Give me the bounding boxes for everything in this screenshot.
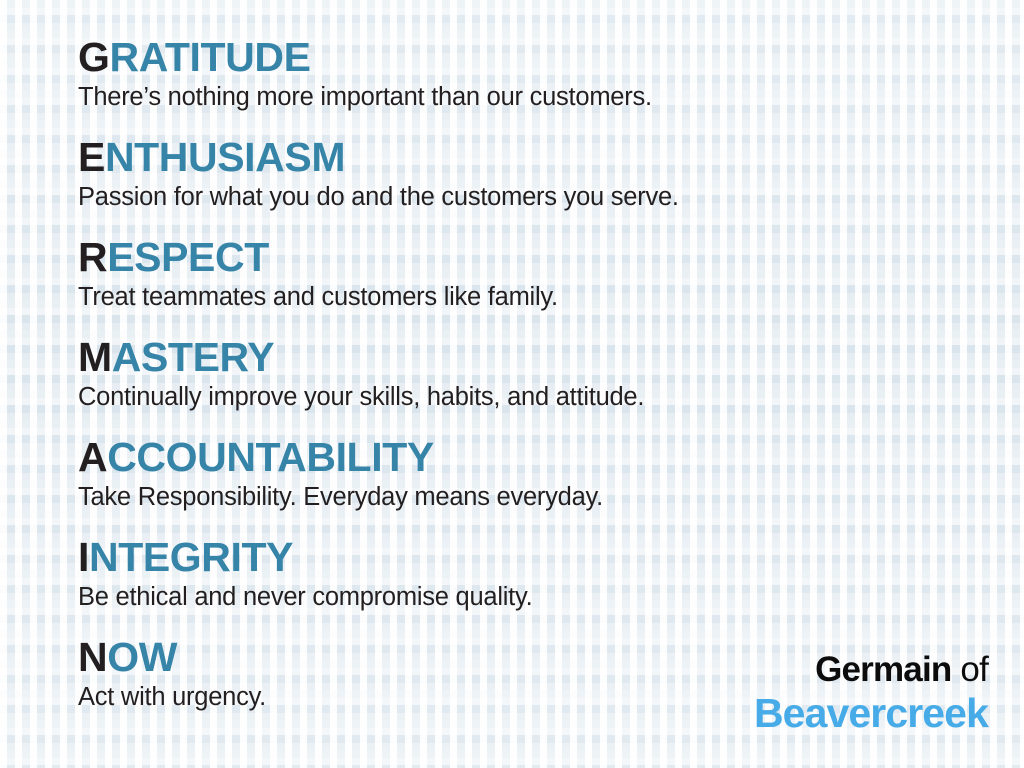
logo-location-name: Beavercreek <box>754 691 988 736</box>
value-initial-letter: G <box>78 34 110 80</box>
value-heading-now: NOW <box>78 634 679 680</box>
value-initial-letter: R <box>78 234 107 280</box>
logo-line-primary: Germain of <box>754 650 988 690</box>
value-initial-letter: E <box>78 134 105 180</box>
value-block-accountability: ACCOUNTABILITY Take Responsibility. Ever… <box>78 434 679 534</box>
slide-canvas: GRATITUDE There’s nothing more important… <box>0 0 1024 768</box>
value-heading-integrity: INTEGRITY <box>78 534 679 580</box>
value-heading-rest: RATITUDE <box>110 34 311 80</box>
logo-brand-name: Germain <box>815 650 951 689</box>
value-initial-letter: N <box>78 634 107 680</box>
value-block-respect: RESPECT Treat teammates and customers li… <box>78 234 679 334</box>
value-heading-rest: ESPECT <box>107 234 269 280</box>
value-description-integrity: Be ethical and never compromise quality. <box>78 581 679 613</box>
logo-connector-word: of <box>951 650 988 689</box>
value-heading-rest: NTEGRITY <box>89 534 293 580</box>
value-block-enthusiasm: ENTHUSIASM Passion for what you do and t… <box>78 134 679 234</box>
core-values-list: GRATITUDE There’s nothing more important… <box>78 34 679 734</box>
value-block-gratitude: GRATITUDE There’s nothing more important… <box>78 34 679 134</box>
value-initial-letter: I <box>78 534 89 580</box>
value-heading-accountability: ACCOUNTABILITY <box>78 434 679 480</box>
value-block-now: NOW Act with urgency. <box>78 634 679 734</box>
value-description-respect: Treat teammates and customers like famil… <box>78 281 679 313</box>
value-heading-rest: OW <box>107 634 177 680</box>
value-heading-mastery: MASTERY <box>78 334 679 380</box>
value-block-mastery: MASTERY Continually improve your skills,… <box>78 334 679 434</box>
value-heading-rest: CCOUNTABILITY <box>107 434 434 480</box>
value-initial-letter: A <box>78 434 107 480</box>
value-description-gratitude: There’s nothing more important than our … <box>78 81 679 113</box>
value-heading-rest: NTHUSIASM <box>105 134 345 180</box>
value-description-accountability: Take Responsibility. Everyday means ever… <box>78 481 679 513</box>
value-description-mastery: Continually improve your skills, habits,… <box>78 381 679 413</box>
value-description-now: Act with urgency. <box>78 681 679 713</box>
value-heading-gratitude: GRATITUDE <box>78 34 679 80</box>
value-heading-rest: ASTERY <box>112 334 274 380</box>
value-heading-enthusiasm: ENTHUSIASM <box>78 134 679 180</box>
dealership-logo: Germain of Beavercreek <box>754 650 988 736</box>
value-initial-letter: M <box>78 334 112 380</box>
value-heading-respect: RESPECT <box>78 234 679 280</box>
value-description-enthusiasm: Passion for what you do and the customer… <box>78 181 679 213</box>
value-block-integrity: INTEGRITY Be ethical and never compromis… <box>78 534 679 634</box>
